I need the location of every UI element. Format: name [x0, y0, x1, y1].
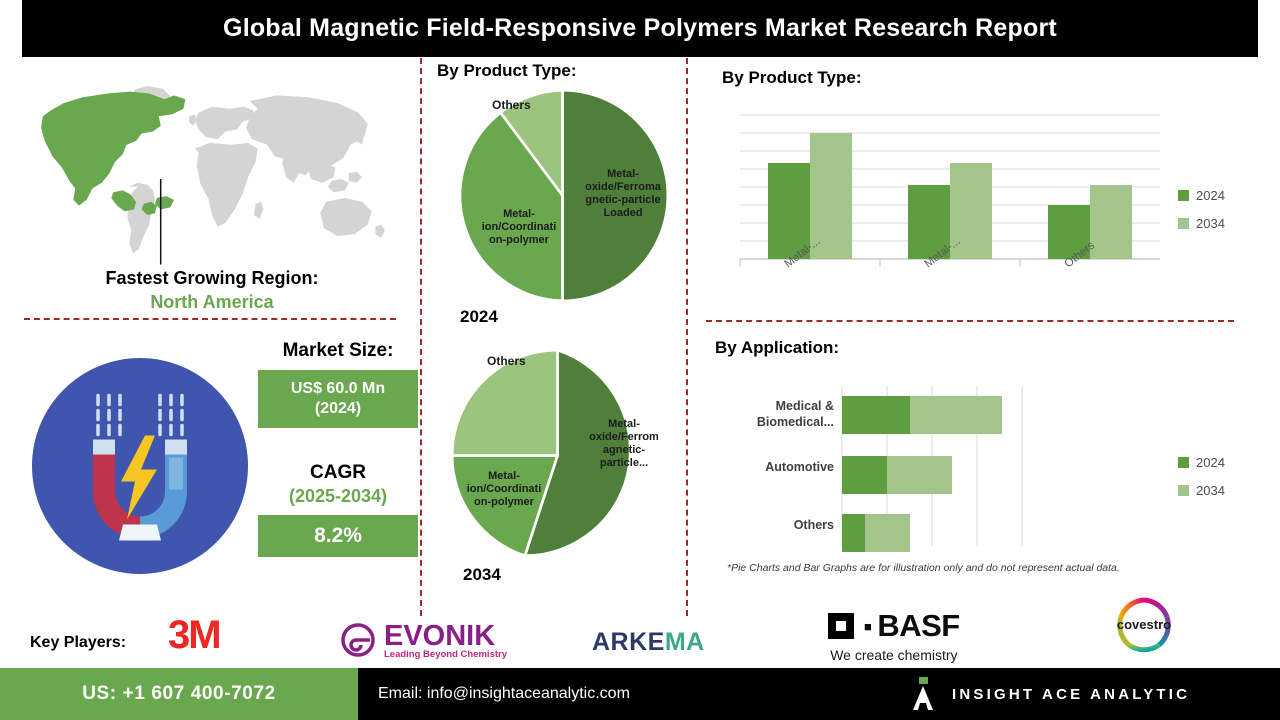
world-map-icon: [22, 72, 402, 267]
cagr-title: CAGR: [258, 462, 418, 484]
legend-swatch-2034: [1178, 218, 1189, 229]
application-chart-title: By Application:: [715, 338, 839, 358]
bar-chart-title: By Product Type:: [722, 68, 861, 88]
logo-arkema-text-1: ARKE: [592, 628, 665, 656]
market-size-value-line2: (2024): [264, 399, 412, 419]
legend-swatch-app-2034: [1178, 485, 1189, 496]
cagr-value-box: 8.2%: [258, 515, 418, 557]
logo-basf-text-wrap: ■ BASF: [828, 608, 960, 644]
hbar-2034-2: [865, 514, 910, 552]
region-value: North America: [22, 292, 402, 313]
brand-name: INSIGHT ACE ANALYTIC: [952, 686, 1190, 703]
legend-swatch-app-2024: [1178, 457, 1189, 468]
footer-bar: US: +1 607 400-7072 Email: info@insighta…: [0, 668, 1280, 720]
key-players-label: Key Players:: [30, 634, 126, 652]
header-bar: Global Magnetic Field-Responsive Polymer…: [22, 0, 1258, 57]
bar-chart-application: Medical & Biomedical... Automotive Other…: [730, 378, 1100, 558]
hbar-category-label-0a: Medical &: [776, 399, 834, 413]
footer-brand: INSIGHT ACE ANALYTIC: [910, 668, 1190, 720]
logo-covestro: covestro: [1098, 596, 1190, 656]
logo-basf-tagline: We create chemistry: [828, 647, 960, 663]
bar-chart-product-type: Metal-... Metal-... Others: [730, 105, 1170, 285]
divider-vertical-right: [686, 58, 688, 616]
world-map: [22, 72, 402, 267]
horseshoe-magnet-icon: [65, 384, 215, 549]
bar-category-label-1: Metal-...: [922, 235, 962, 270]
divider-horizontal-left: [24, 318, 396, 320]
pie-2024-year: 2024: [460, 307, 498, 327]
logo-arkema-text-2: MA: [665, 628, 705, 656]
hbar-category-label-1: Automotive: [765, 460, 834, 474]
legend-label-app-2024: 2024: [1196, 455, 1225, 470]
legend-item-2024: 2024: [1178, 188, 1225, 203]
logo-covestro-text: covestro: [1117, 617, 1171, 632]
logo-basf: ■ BASF We create chemistry: [828, 608, 960, 663]
footer-phone-block: US: +1 607 400-7072: [0, 668, 358, 720]
pie-2034-slice-label-2: Others: [487, 354, 526, 368]
logo-arkema: ARKEMA: [592, 628, 705, 657]
basf-dot-icon: ■: [864, 619, 871, 634]
hbar-category-label-0b: Biomedical...: [757, 415, 834, 429]
hbar-2034-1: [887, 456, 952, 494]
logo-basf-text: BASF: [877, 608, 959, 644]
divider-vertical-left: [420, 58, 422, 616]
pie-chart-2034: [450, 348, 665, 563]
cagr-years: (2025-2034): [258, 486, 418, 507]
legend-label-app-2034: 2034: [1196, 483, 1225, 498]
hbar-2024-2: [842, 514, 865, 552]
bar-category-label-0: Metal-...: [782, 235, 822, 270]
bar-chart-legend: 2024 2034: [1178, 188, 1225, 244]
footer-email[interactable]: Email: info@insightaceanalytic.com: [378, 668, 630, 720]
market-size-value-line1: US$ 60.0 Mn: [264, 379, 412, 399]
logo-evonik: EVONIK Leading Beyond Chemistry: [340, 620, 507, 660]
pie-section-title: By Product Type:: [437, 61, 576, 81]
basf-square-icon: [828, 611, 858, 641]
legend-item-2034: 2034: [1178, 216, 1225, 231]
a-logo-icon: [910, 677, 936, 711]
region-label: Fastest Growing Region:: [22, 268, 402, 289]
evonik-mark-icon: [340, 622, 376, 658]
covestro-ring-icon: covestro: [1098, 596, 1190, 656]
hbar-2024-0: [842, 396, 910, 434]
pie-chart-2024: [455, 88, 670, 303]
divider-horizontal-right: [706, 320, 1234, 322]
logo-3m: 3M: [168, 613, 220, 658]
legend-item-app-2034: 2034: [1178, 483, 1225, 498]
chart-disclaimer: *Pie Charts and Bar Graphs are for illus…: [727, 562, 1120, 574]
hbar-2024-1: [842, 456, 887, 494]
hbar-2034-0: [910, 396, 1002, 434]
hbar-category-label-2: Others: [794, 518, 834, 532]
legend-label-2024: 2024: [1196, 188, 1225, 203]
market-size-value-box: US$ 60.0 Mn (2024): [258, 370, 418, 428]
fastest-growing-region: Fastest Growing Region: North America: [22, 268, 402, 313]
market-size-block: Market Size: US$ 60.0 Mn (2024) CAGR (20…: [258, 340, 418, 557]
bar-category-label-2: Others: [1062, 240, 1097, 271]
logo-evonik-tagline: Leading Beyond Chemistry: [384, 649, 507, 660]
legend-label-2034: 2034: [1196, 216, 1225, 231]
application-chart-legend: 2024 2034: [1178, 455, 1225, 511]
legend-item-app-2024: 2024: [1178, 455, 1225, 470]
pie-2024-slice-label-2: Others: [492, 98, 531, 112]
magnet-illustration: [32, 358, 248, 574]
page-title: Global Magnetic Field-Responsive Polymer…: [223, 14, 1057, 43]
legend-swatch-2024: [1178, 190, 1189, 201]
market-size-title: Market Size:: [258, 340, 418, 362]
footer-phone[interactable]: US: +1 607 400-7072: [82, 683, 276, 705]
pie-2034-year: 2034: [463, 565, 501, 585]
